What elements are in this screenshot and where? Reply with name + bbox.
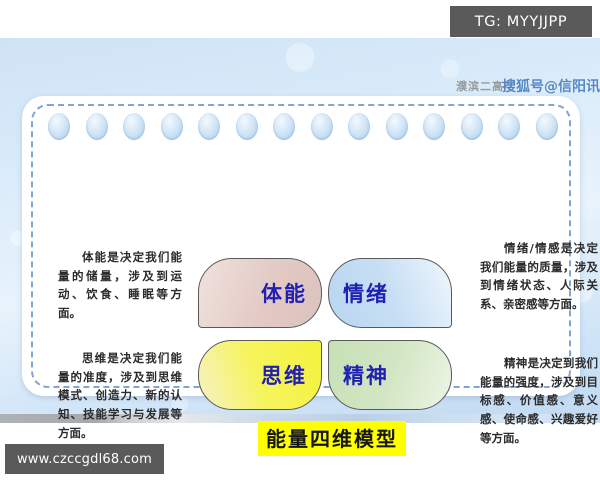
notebook-hole: [461, 113, 483, 140]
petal-label-siwei: 思维: [261, 360, 307, 390]
petal-jingshen: 精神: [328, 340, 452, 410]
petal-label-qingxu: 情绪: [343, 278, 389, 308]
telegram-watermark: TG: MYYJJPP: [450, 6, 592, 37]
website-watermark: www.czccgdl68.com: [5, 444, 164, 474]
notebook-hole: [161, 113, 183, 140]
notebook-hole: [273, 113, 295, 140]
sohu-account-watermark: 搜狐号@信阳讯: [502, 76, 600, 96]
notebook-hole: [386, 113, 408, 140]
petal-label-tineng: 体能: [261, 278, 307, 308]
notebook-hole: [348, 113, 370, 140]
notebook-hole: [311, 113, 333, 140]
paragraph-jingshen: 精神是决定到我们能量的强度，涉及到目标感、价值感、意义感、使命感、兴趣爱好等方面…: [480, 354, 598, 447]
notebook-hole: [236, 113, 258, 140]
notebook-hole: [536, 113, 558, 140]
notebook-hole-row: [48, 112, 558, 140]
notebook-hole: [86, 113, 108, 140]
paragraph-qingxu: 情绪/情感是决定我们能量的质量，涉及到情绪状态、人际关系、亲密感等方面。: [480, 239, 598, 314]
notebook-hole: [123, 113, 145, 140]
card-header-watermarks: 濮滨二高学 搜狐号@信阳讯: [422, 76, 600, 96]
four-petal-diagram: 体能 情绪 思维 精神: [198, 258, 452, 410]
petal-siwei: 思维: [198, 340, 322, 410]
paragraph-tineng: 体能是决定我们能量的储量，涉及到运动、饮食、睡眠等方面。: [58, 248, 182, 323]
notebook-card: 濮滨二高学 搜狐号@信阳讯 体能是决定我们能量的储量，涉及到运动、饮食、睡眠等方…: [22, 96, 580, 396]
petal-label-jingshen: 精神: [343, 360, 389, 390]
petal-tineng: 体能: [198, 258, 322, 328]
notebook-hole: [498, 113, 520, 140]
diagram-title: 能量四维模型: [258, 421, 406, 456]
petal-qingxu: 情绪: [328, 258, 452, 328]
paragraph-siwei: 思维是决定我们能量的准度，涉及到思维模式、创造力、新的认知、技能学习与发展等方面…: [58, 349, 182, 442]
notebook-hole: [48, 113, 70, 140]
notebook-hole: [198, 113, 220, 140]
notebook-hole: [423, 113, 445, 140]
